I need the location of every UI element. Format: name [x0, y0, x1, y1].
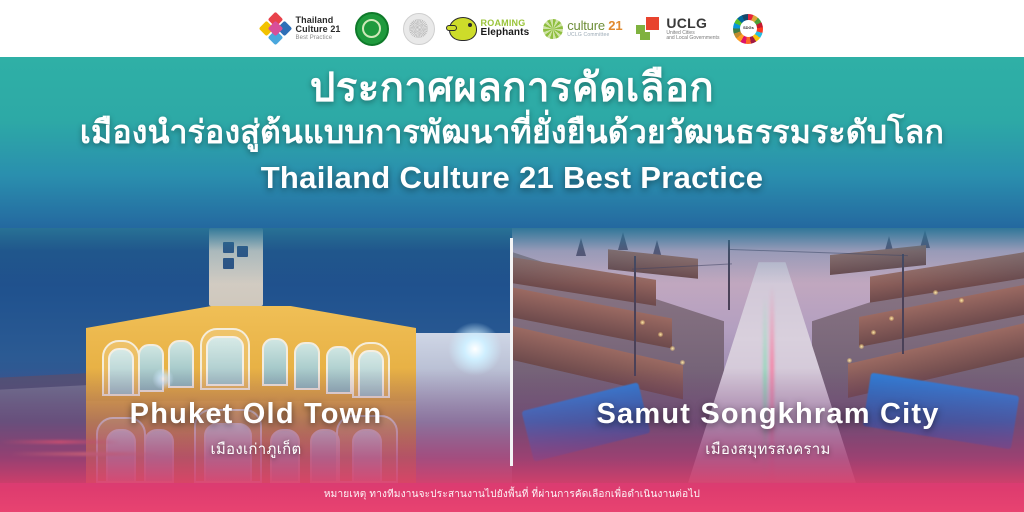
poster-canvas: Thailand Culture 21 Best Practice ROAMIN… [0, 0, 1024, 512]
samut-utility-pole-right [902, 254, 904, 354]
headline-line-1: ประกาศผลการคัดเลือก [0, 66, 1024, 111]
thailand-culture-21-diamond-icon [261, 14, 291, 44]
shophouse-upper-floor [86, 306, 416, 406]
ministry-of-culture-seal-icon [355, 12, 389, 46]
phuket-name-th: เมืองเก่าภูเก็ต [0, 437, 512, 461]
shophouse-tower [209, 228, 263, 306]
phuket-street-lamp-glow [448, 322, 502, 376]
logo-roaming-elephants: ROAMING Elephants [449, 17, 530, 41]
footnote-text: หมายเหตุ ทางทีมงานจะประสานงานไปยังพื้นที… [0, 487, 1024, 502]
sdg-wheel-label: SDGs [743, 26, 754, 30]
city-caption-row: Phuket Old Town เมืองเก่าภูเก็ต Samut So… [0, 398, 1024, 461]
headline-line-3: Thailand Culture 21 Best Practice [0, 159, 1024, 196]
samut-name-en: Samut Songkhram City [512, 398, 1024, 431]
logo-culture-21: culture 21 UCLG Committee [543, 19, 622, 39]
samut-utility-pole-center [728, 240, 730, 310]
elephant-icon [449, 17, 477, 41]
phuket-name-en: Phuket Old Town [0, 398, 512, 431]
phuket-sign-glow [152, 368, 174, 390]
samut-utility-pole-left [634, 256, 636, 376]
thai-government-seal-icon [403, 13, 435, 45]
sdg-wheel-icon: SDGs [733, 14, 763, 44]
logo-thailand-culture-21: Thailand Culture 21 Best Practice [261, 14, 341, 44]
logo-uclg: UCLG United Cities and Local Governments [636, 16, 719, 41]
logo-c21-word: culture [567, 18, 605, 33]
headline-block: ประกาศผลการคัดเลือก เมืองนำร่องสู่ต้นแบบ… [0, 66, 1024, 196]
uclg-blocks-icon [636, 17, 662, 41]
caption-phuket-old-town: Phuket Old Town เมืองเก่าภูเก็ต [0, 398, 512, 461]
partner-logo-band: Thailand Culture 21 Best Practice ROAMIN… [0, 0, 1024, 57]
samut-name-th: เมืองสมุทรสงคราม [512, 437, 1024, 461]
logo-uclg-acronym: UCLG [666, 16, 719, 31]
temple-spire-2 [618, 232, 628, 250]
logo-c21-subtitle: UCLG Committee [567, 33, 622, 38]
logo-roaming-line2: Elephants [481, 28, 530, 39]
logo-uclg-line3: and Local Governments [666, 36, 719, 41]
temple-spire-1 [576, 238, 586, 256]
headline-line-2: เมืองนำร่องสู่ต้นแบบการพัฒนาที่ยั่งยืนด้… [0, 113, 1024, 151]
caption-samut-songkhram-city: Samut Songkhram City เมืองสมุทรสงคราม [512, 398, 1024, 461]
logo-c21-number: 21 [608, 18, 622, 33]
logo-tc21-line2: Culture 21 [296, 25, 341, 34]
culture-21-globe-icon [543, 19, 563, 39]
logo-tc21-line3: Best Practice [296, 35, 341, 41]
